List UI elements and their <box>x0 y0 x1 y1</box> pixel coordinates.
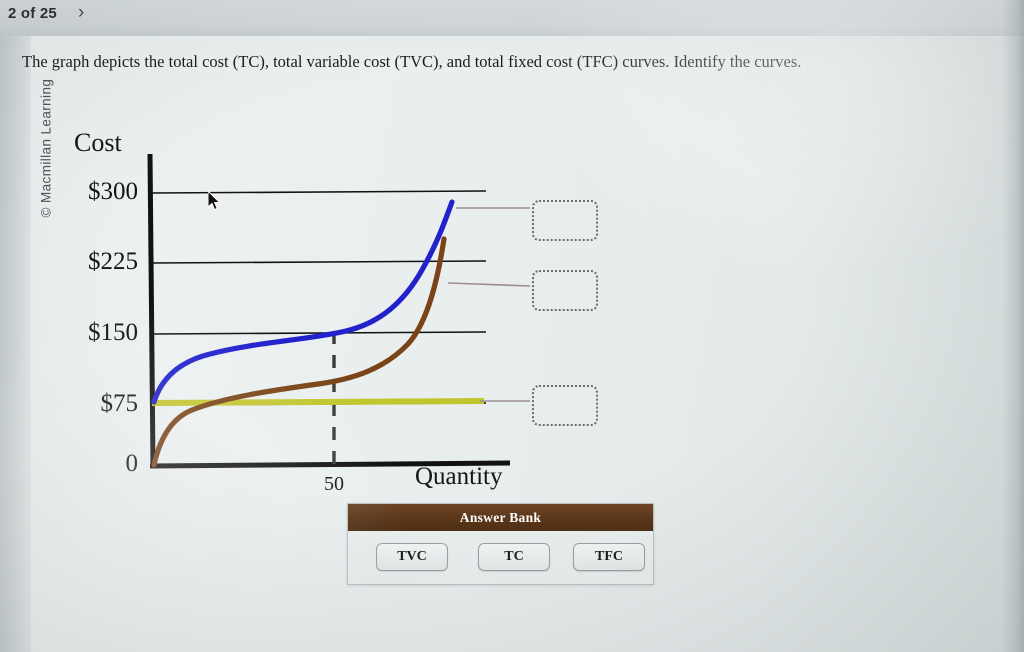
gridline-300 <box>152 191 486 193</box>
ytick-label-300: $300 <box>60 178 138 206</box>
y-axis <box>150 154 153 466</box>
screenshot-root: 2 of 25 › © Macmillan Learning The graph… <box>0 0 1024 652</box>
leader-lines <box>448 208 530 401</box>
dropzone-tvc[interactable] <box>532 270 598 311</box>
ytick-label-150: $150 <box>60 319 138 347</box>
top-nav-bar: 2 of 25 › <box>0 0 1024 36</box>
gridlines <box>152 191 486 405</box>
dropzone-tc[interactable] <box>532 200 598 241</box>
curve-tc <box>154 202 452 402</box>
gridline-225 <box>152 261 486 263</box>
answer-token-tc[interactable]: TC <box>478 543 550 571</box>
leader-line-tvc <box>448 283 530 286</box>
answer-bank-title: Answer Bank <box>348 504 653 531</box>
page-left-edge <box>0 0 31 652</box>
question-prompt: The graph depicts the total cost (TC), t… <box>22 52 997 72</box>
answer-token-tfc[interactable]: TFC <box>573 543 645 571</box>
graph-canvas <box>60 118 620 508</box>
axis-title-quantity: Quantity <box>415 463 503 491</box>
curve-tvc <box>154 239 444 465</box>
question-counter: 2 of 25 <box>8 5 57 22</box>
ytick-label-225: $225 <box>60 248 138 276</box>
answer-bank: Answer Bank TVC TC TFC <box>347 503 654 585</box>
answer-token-tvc[interactable]: TVC <box>376 543 448 571</box>
answer-bank-body: TVC TC TFC <box>348 531 653 584</box>
curve-tfc <box>152 401 484 403</box>
dropzone-tfc[interactable] <box>532 385 598 426</box>
xtick-label-50: 50 <box>324 473 344 496</box>
cost-curves-graph: Cost $300 $225 $150 $75 0 50 Quantity <box>60 118 620 508</box>
axis-title-cost: Cost <box>74 128 122 158</box>
ytick-label-0: 0 <box>60 450 138 478</box>
next-question-chevron-icon[interactable]: › <box>78 2 84 24</box>
ytick-label-75: $75 <box>60 390 138 418</box>
page-right-edge <box>1002 0 1024 652</box>
